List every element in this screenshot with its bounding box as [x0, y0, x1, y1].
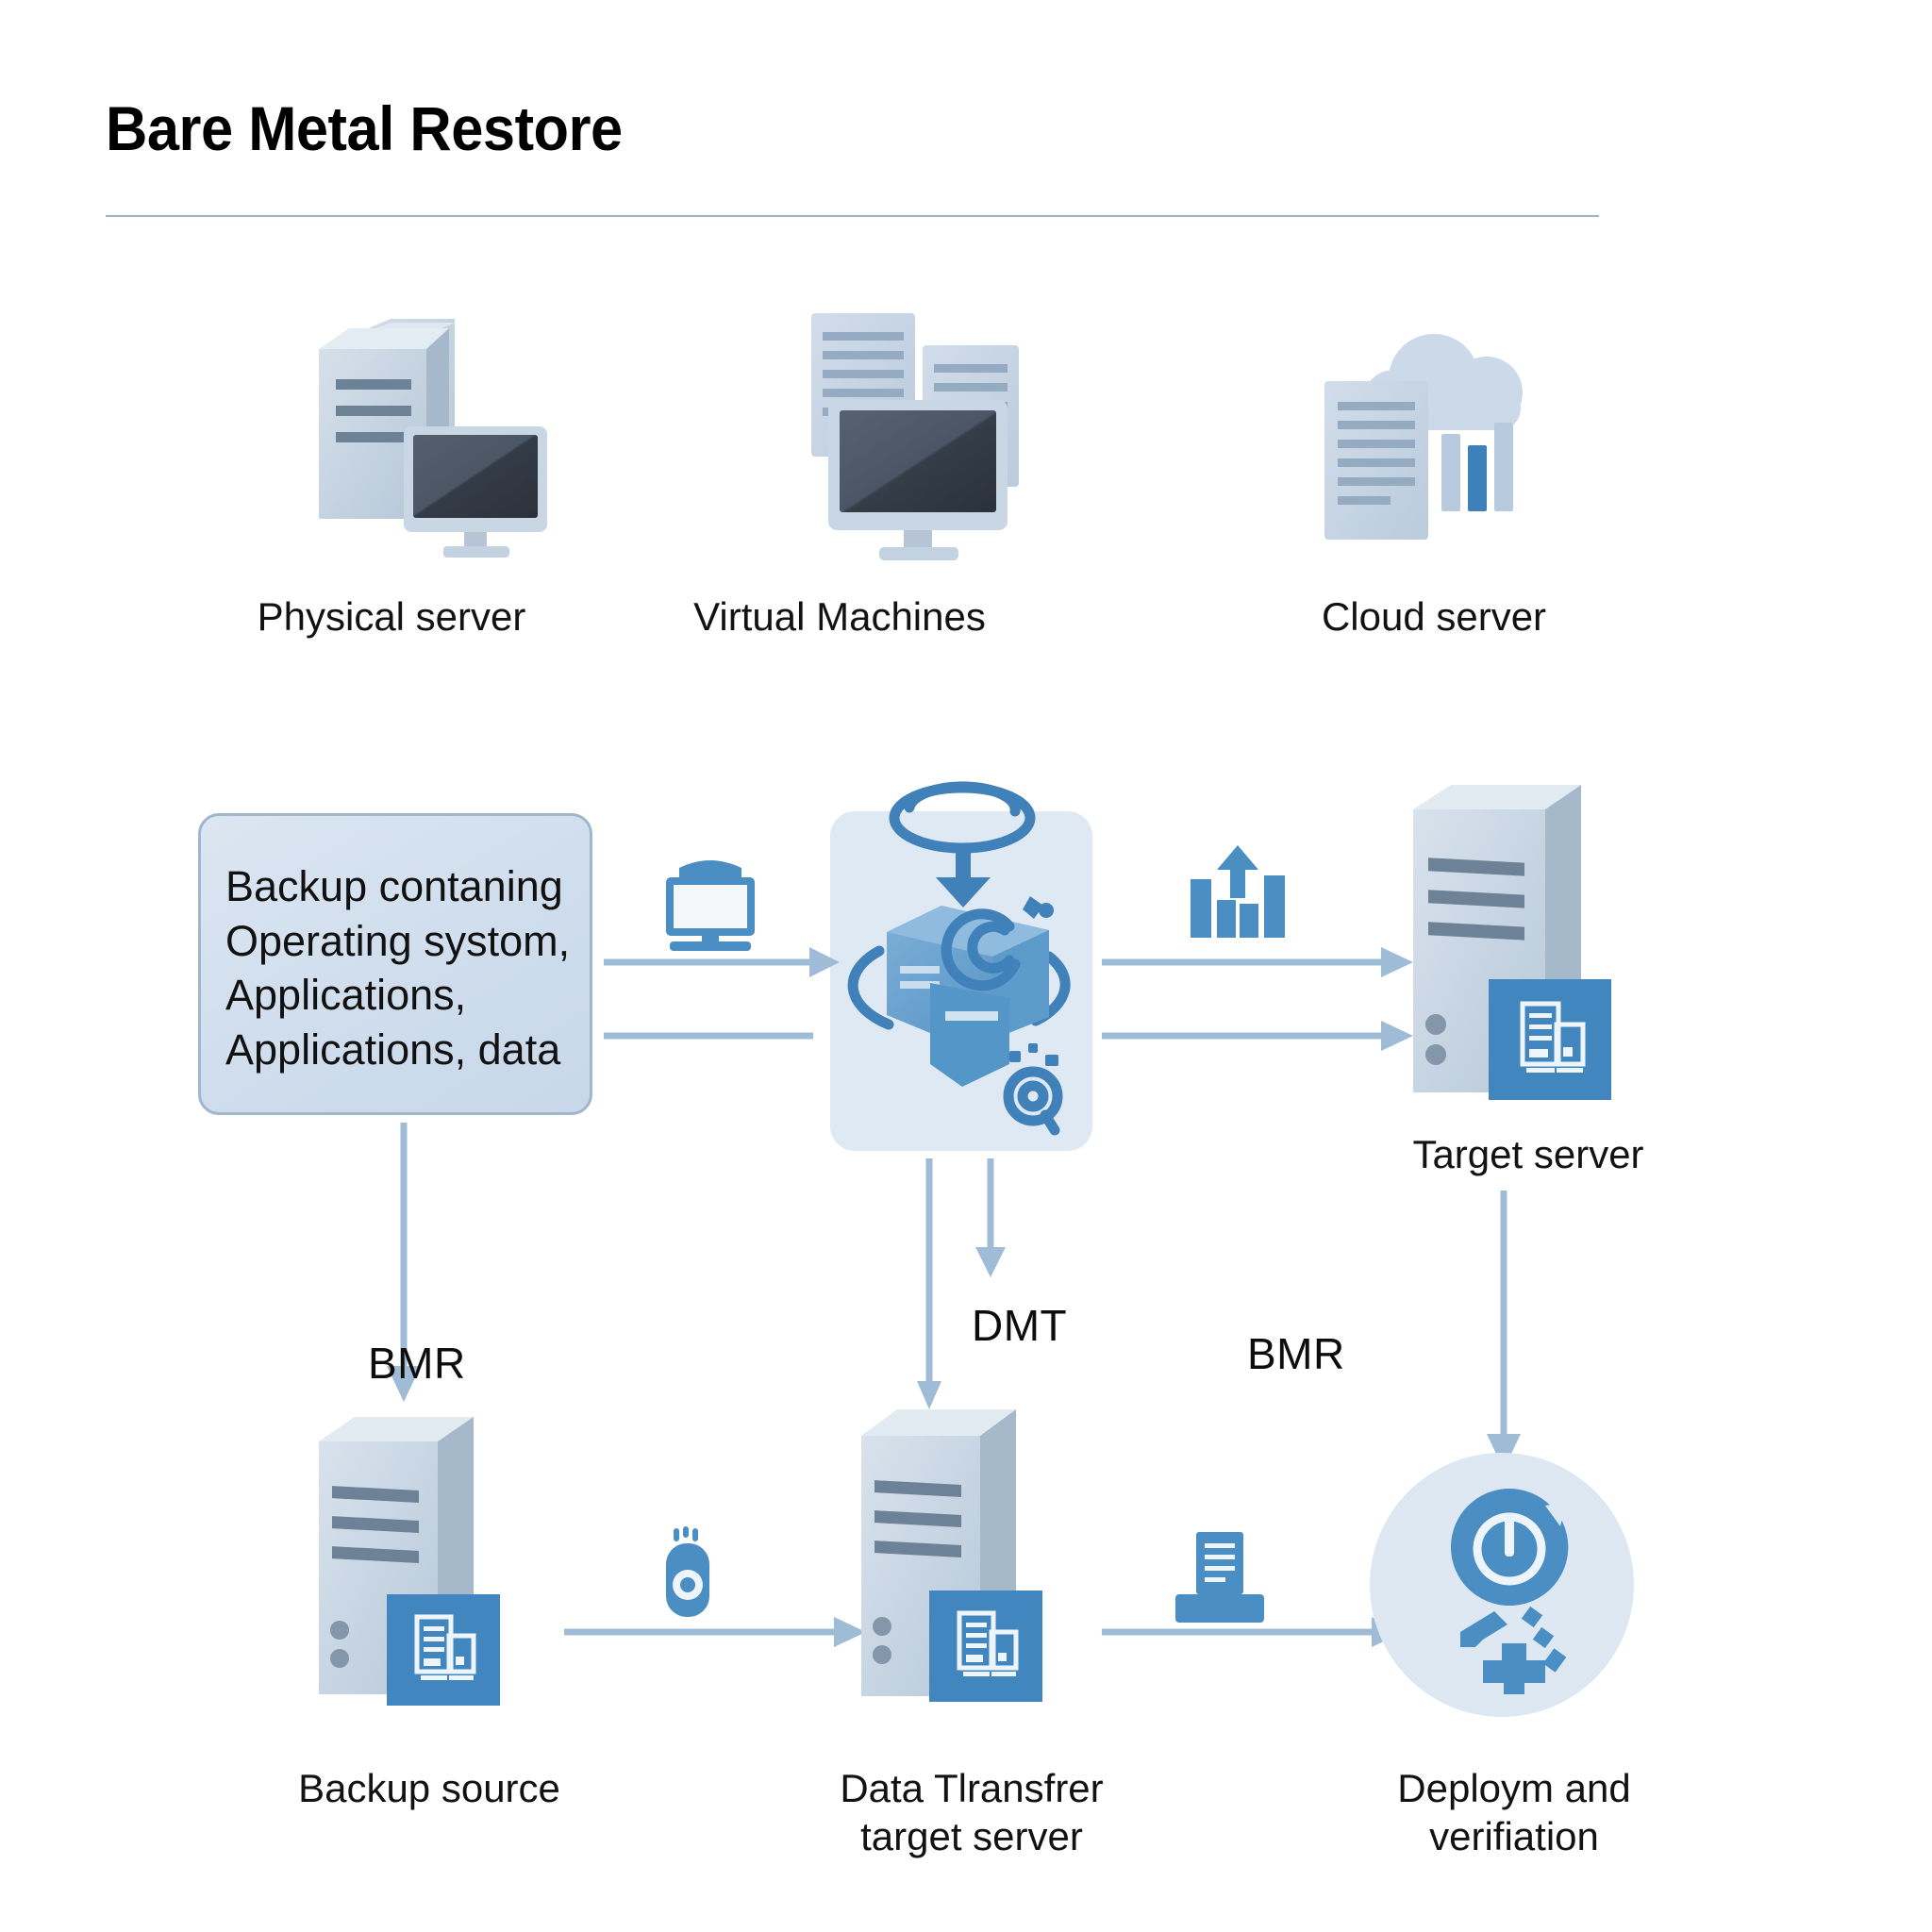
transfer-target-server-icon — [854, 1406, 1099, 1726]
node-label-backup-source: Backup source — [222, 1764, 637, 1812]
target-server-icon — [1406, 783, 1689, 1113]
bar-chart-up-icon — [1177, 838, 1300, 951]
arrow-process-to-transfer-short — [972, 1158, 1009, 1281]
source-label-virtual-machines: Virtual Machines — [604, 592, 1075, 641]
arrow-backup-to-process-bottom — [604, 1017, 840, 1055]
page-title: Bare Metal Restore — [106, 92, 623, 164]
diagram-canvas: Bare Metal Restore — [0, 0, 1932, 1932]
flow-label-bmr-left: BMR — [368, 1338, 466, 1389]
backup-source-icon — [311, 1415, 557, 1726]
title-divider — [106, 215, 1599, 217]
source-label-physical-server: Physical server — [189, 592, 594, 641]
node-label-target-server: Target server — [1340, 1130, 1717, 1178]
arrow-process-to-transfer-long — [915, 1158, 943, 1413]
arrow-process-to-target-bottom — [1102, 1017, 1413, 1055]
power-restore-deploy-icon — [1424, 1481, 1594, 1698]
arrow-target-to-deploy — [1477, 1191, 1530, 1474]
flow-label-bmr-right: BMR — [1247, 1328, 1345, 1379]
physical-server-icon — [311, 311, 538, 575]
sensor-plug-icon — [651, 1526, 726, 1630]
source-label-cloud-server: Cloud server — [1245, 592, 1623, 641]
backup-contents-text: Backup contaning Operating systom, Appli… — [225, 859, 580, 1076]
flow-label-dmt: DMT — [972, 1300, 1067, 1351]
monitor-icon — [649, 857, 772, 960]
backup-contents-box: Backup contaning Operating systom, Appli… — [198, 813, 592, 1115]
document-transfer-icon — [1168, 1528, 1272, 1632]
node-label-transfer-target: Data Tlransfrer target server — [764, 1764, 1179, 1860]
cloud-server-icon — [1302, 311, 1575, 585]
virtual-machines-icon — [802, 309, 1066, 585]
node-label-deploy-verification: Deploym and verifiation — [1316, 1764, 1712, 1860]
data-restore-process-icon — [830, 764, 1104, 1160]
